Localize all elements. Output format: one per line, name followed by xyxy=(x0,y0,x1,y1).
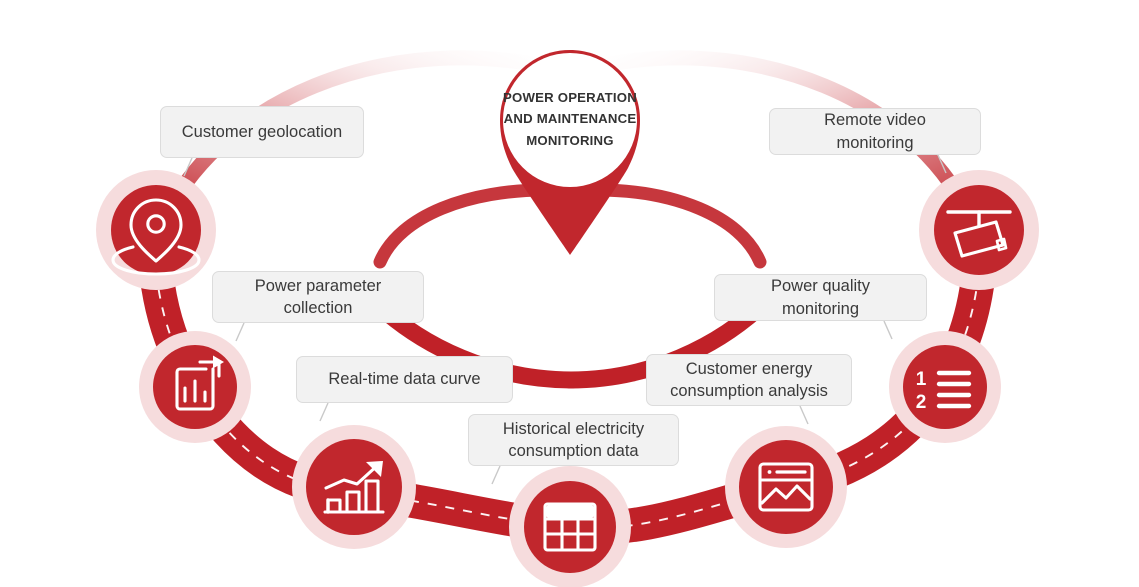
node-remote-video-monitoring[interactable] xyxy=(919,170,1039,290)
diagram-graphics: 1 2 xyxy=(0,0,1139,587)
tail-power-parameter-collection xyxy=(236,323,244,341)
label-historical-electricity-consumption-data-text: Historical electricity consumption data xyxy=(485,418,662,463)
label-historical-electricity-consumption-data[interactable]: Historical electricity consumption data xyxy=(468,414,679,466)
list-digit-two: 2 xyxy=(916,392,927,413)
diagram-canvas: 1 2 POWER OPERATIO xyxy=(0,0,1139,587)
label-power-quality-monitoring[interactable]: Power quality monitoring xyxy=(714,274,927,321)
label-power-quality-monitoring-text: Power quality monitoring xyxy=(731,275,910,320)
tail-power-quality-monitoring xyxy=(884,321,892,339)
tail-customer-energy-consumption-analysis xyxy=(800,406,808,424)
node-power-quality-monitoring[interactable] xyxy=(889,331,1001,443)
center-pin-marker[interactable] xyxy=(500,50,640,255)
label-remote-video-monitoring[interactable]: Remote video monitoring xyxy=(769,108,981,155)
tail-real-time-data-curve xyxy=(320,403,328,421)
label-customer-energy-consumption-analysis[interactable]: Customer energy consumption analysis xyxy=(646,354,852,406)
label-power-parameter-collection-text: Power parameter collection xyxy=(229,275,407,320)
list-digit-one: 1 xyxy=(916,369,927,390)
label-customer-energy-consumption-analysis-text: Customer energy consumption analysis xyxy=(663,358,835,403)
label-customer-geolocation-text: Customer geolocation xyxy=(177,121,347,143)
label-customer-geolocation[interactable]: Customer geolocation xyxy=(160,106,364,158)
label-real-time-data-curve[interactable]: Real-time data curve xyxy=(296,356,513,403)
node-customer-geolocation[interactable] xyxy=(96,170,216,290)
tail-historical-electricity-consumption-data xyxy=(492,466,500,484)
label-remote-video-monitoring-text: Remote video monitoring xyxy=(786,109,964,154)
label-real-time-data-curve-text: Real-time data curve xyxy=(313,368,496,390)
node-customer-energy-consumption-analysis[interactable] xyxy=(725,426,847,548)
label-power-parameter-collection[interactable]: Power parameter collection xyxy=(212,271,424,323)
node-historical-electricity-consumption-data[interactable] xyxy=(509,466,631,587)
node-real-time-data-curve[interactable] xyxy=(292,425,416,549)
table-grid-header-fill xyxy=(547,506,594,518)
